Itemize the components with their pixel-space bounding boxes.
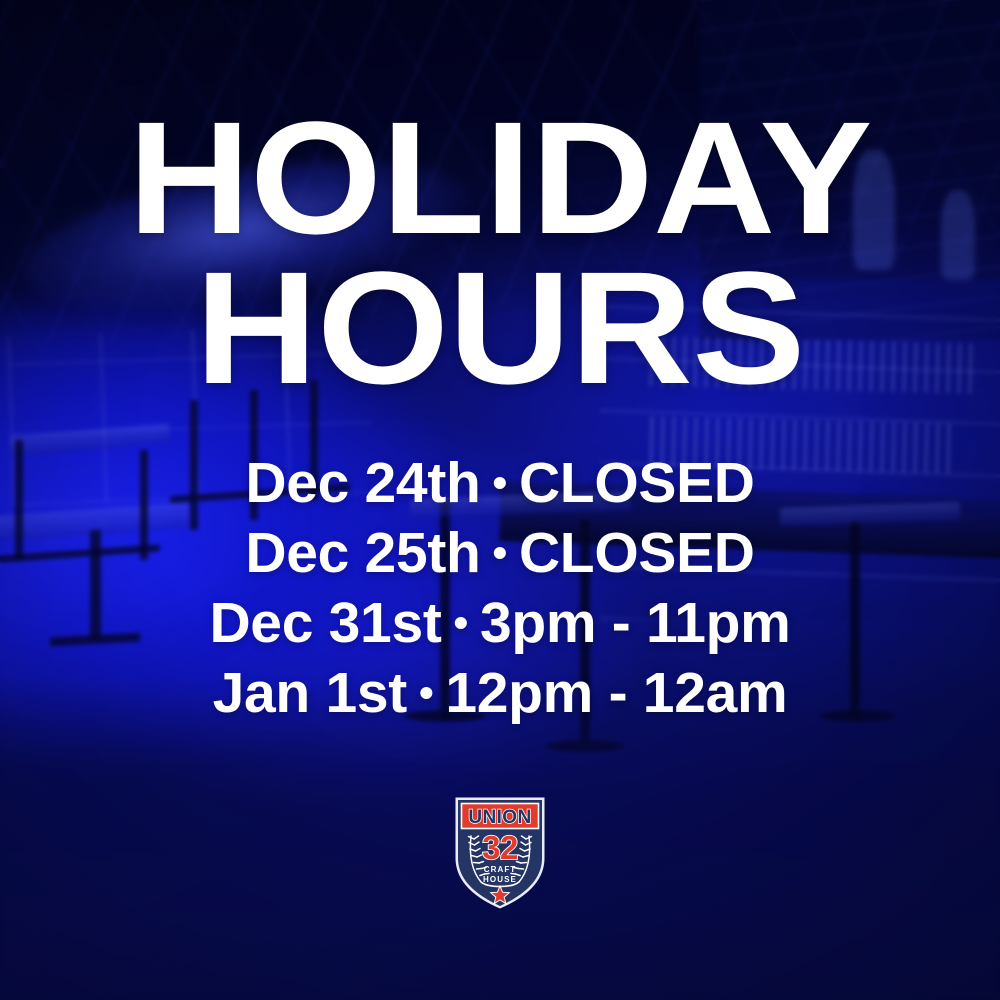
schedule-date: Dec 31st xyxy=(209,591,441,655)
schedule-hours: 12pm - 12am xyxy=(445,661,787,725)
holiday-schedule-list: Dec 24th•CLOSED Dec 25th•CLOSED Dec 31st… xyxy=(0,448,1000,728)
schedule-date: Dec 24th xyxy=(245,451,480,515)
schedule-row: Dec 24th•CLOSED xyxy=(0,448,1000,518)
schedule-date: Jan 1st xyxy=(213,661,407,725)
bullet-separator-icon: • xyxy=(407,672,445,714)
union-wordmark: UNION xyxy=(468,807,531,828)
bullet-separator-icon: • xyxy=(481,462,519,504)
schedule-hours: CLOSED xyxy=(519,451,755,515)
house-text: HOUSE xyxy=(483,875,517,884)
schedule-hours: CLOSED xyxy=(519,521,755,585)
schedule-row: Jan 1st•12pm - 12am xyxy=(0,658,1000,728)
headline-line-1: HOLIDAY xyxy=(0,100,1000,257)
bullet-separator-icon: • xyxy=(442,602,480,644)
bullet-separator-icon: • xyxy=(481,532,519,574)
craft-text: CRAFT xyxy=(484,865,517,874)
schedule-row: Dec 25th•CLOSED xyxy=(0,518,1000,588)
thirty-two-numerals: 32 xyxy=(482,829,518,866)
union-32-logo: UNION 32 CRAFT HOUSE xyxy=(454,796,546,910)
headline-line-2: HOURS xyxy=(0,250,1000,407)
schedule-hours: 3pm - 11pm xyxy=(480,591,791,655)
poster-content: HOLIDAY HOURS Dec 24th•CLOSED Dec 25th•C… xyxy=(0,0,1000,1000)
holiday-hours-poster: HOLIDAY HOURS Dec 24th•CLOSED Dec 25th•C… xyxy=(0,0,1000,1000)
schedule-row: Dec 31st•3pm - 11pm xyxy=(0,588,1000,658)
schedule-date: Dec 25th xyxy=(245,521,480,585)
